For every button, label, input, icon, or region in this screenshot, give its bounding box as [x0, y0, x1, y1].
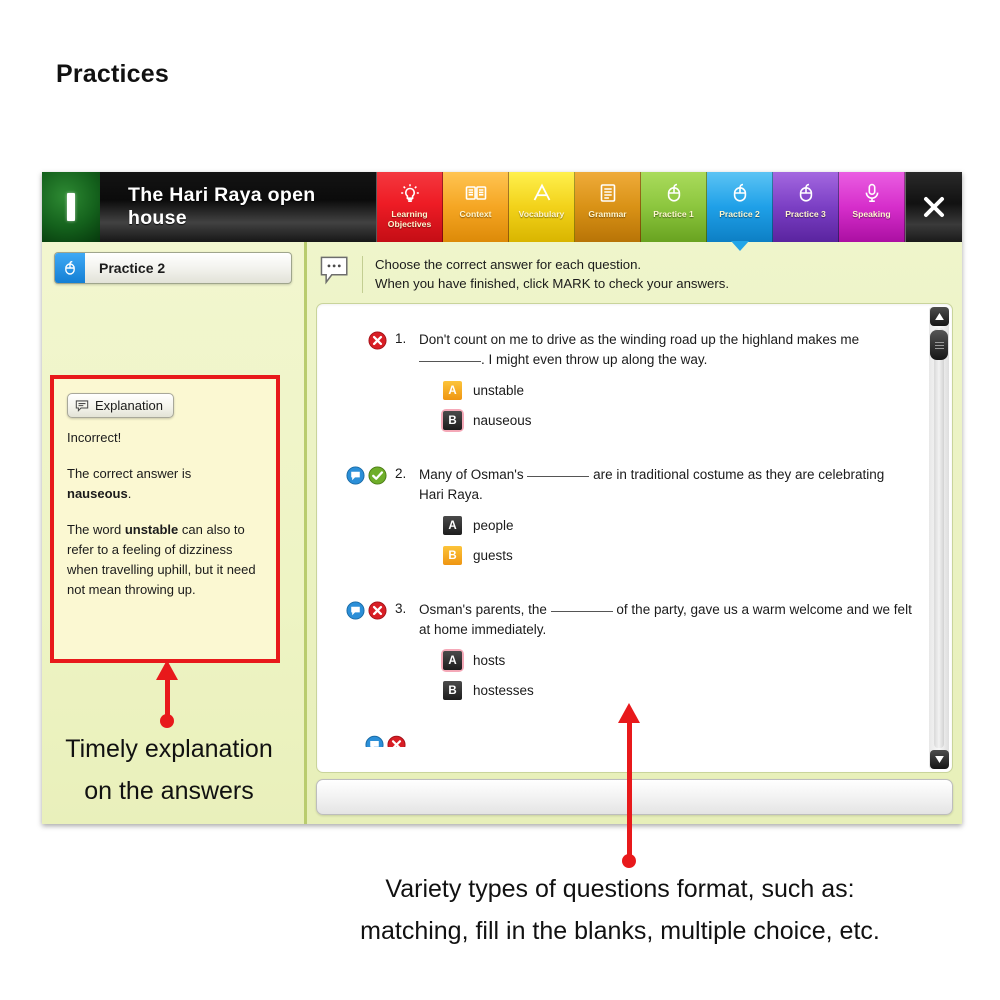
explanation-button[interactable]: Explanation: [67, 393, 174, 418]
question-number: 1.: [387, 330, 419, 439]
speech-bubble-icon: [320, 256, 352, 286]
annotation-arrow-explanation: [145, 660, 189, 728]
tab-label: Vocabulary: [517, 210, 567, 220]
blank-field[interactable]: [419, 361, 481, 362]
note-prefix: The word: [67, 522, 125, 537]
instruction-text: Choose the correct answer for each quest…: [362, 256, 729, 293]
option-text: guests: [473, 548, 513, 563]
question-marks: [341, 330, 387, 439]
blank-field[interactable]: [527, 476, 589, 477]
tab-label: Learning Objectives: [377, 210, 442, 229]
explanation-panel: Explanation Incorrect! The correct answe…: [50, 375, 280, 663]
option-key[interactable]: A: [443, 651, 462, 670]
question-item: 2. Many of Osman's are in traditional co…: [341, 465, 912, 574]
arrow-dot: [622, 854, 636, 868]
explanation-icon[interactable]: [365, 735, 384, 747]
annotation-arrow-questions: [607, 703, 651, 868]
option-key-wrap-selected: A: [441, 649, 464, 672]
explanation-icon[interactable]: [346, 601, 365, 620]
question-main: Don't count on me to drive as the windin…: [419, 330, 912, 439]
explanation-button-label: Explanation: [95, 398, 163, 413]
tab-vocabulary[interactable]: Vocabulary: [509, 172, 575, 242]
incorrect-icon: [368, 601, 387, 620]
correct-answer-intro: The correct answer is: [67, 466, 191, 481]
tab-practice-3[interactable]: Practice 3: [773, 172, 839, 242]
explanation-correct-answer: The correct answer is nauseous.: [67, 464, 263, 504]
instruction-line-2: When you have finished, click MARK to ch…: [375, 275, 729, 294]
lightbulb-icon: [397, 178, 423, 208]
question-options: A unstable B nauseous: [419, 379, 912, 432]
option-text: people: [473, 518, 514, 533]
tab-context[interactable]: Context: [443, 172, 509, 242]
scrollbar-thumb[interactable]: [930, 330, 948, 360]
lesson-title: The Hari Raya open house: [100, 172, 377, 242]
explanation-verdict: Incorrect!: [67, 428, 263, 448]
option-row[interactable]: A unstable: [419, 379, 912, 402]
tab-grammar[interactable]: Grammar: [575, 172, 641, 242]
sidebar-section-practice-2[interactable]: Practice 2: [54, 252, 292, 284]
stem-part-1: Osman's parents, the: [419, 602, 547, 617]
tab-learning-objectives[interactable]: Learning Objectives: [377, 172, 443, 242]
stem-part-1: Many of Osman's: [419, 467, 524, 482]
speech-bubble-icon: [75, 399, 89, 413]
correct-icon: [368, 466, 387, 485]
tab-practice-1[interactable]: Practice 1: [641, 172, 707, 242]
period: .: [128, 486, 132, 501]
explanation-note: The word unstable can also to refer to a…: [67, 520, 263, 600]
vertical-scrollbar[interactable]: [929, 307, 949, 769]
tab-label: Practice 3: [783, 210, 828, 220]
option-key-wrap: B: [441, 679, 464, 702]
question-main: Osman's parents, the of the party, gave …: [419, 600, 912, 709]
book-icon: [463, 178, 489, 208]
option-text: unstable: [473, 383, 524, 398]
option-key[interactable]: B: [443, 546, 462, 565]
question-marks: [341, 465, 387, 574]
blank-field[interactable]: [551, 611, 613, 612]
correct-answer-word: nauseous: [67, 486, 128, 501]
close-button[interactable]: [905, 172, 962, 242]
option-row[interactable]: B nauseous: [419, 409, 912, 432]
annotation-caption-bottom: Variety types of questions format, such …: [240, 868, 1000, 952]
question-item: 3. Osman's parents, the of the party, ga…: [341, 600, 912, 709]
option-row[interactable]: A people: [419, 514, 912, 537]
mouse-icon: [661, 178, 687, 208]
tab-label: Context: [458, 210, 494, 220]
question-stem: Osman's parents, the of the party, gave …: [419, 600, 912, 640]
nav-tabs: Learning Objectives Context Vocabulary: [377, 172, 905, 242]
option-key-wrap: A: [441, 514, 464, 537]
instruction-banner: Choose the correct answer for each quest…: [316, 250, 953, 303]
page-title: Practices: [56, 60, 169, 89]
instruction-line-1: Choose the correct answer for each quest…: [375, 256, 729, 275]
caption-left-line-1: Timely explanation: [14, 728, 324, 770]
stem-part-1: Don't count on me to drive as the windin…: [419, 332, 859, 347]
explanation-text: Incorrect! The correct answer is nauseou…: [67, 428, 263, 600]
question-stem: Many of Osman's are in traditional costu…: [419, 465, 912, 505]
question-list: 1. Don't count on me to drive as the win…: [317, 304, 952, 753]
question-number: 2.: [387, 465, 419, 574]
incorrect-icon: [368, 331, 387, 350]
logo-letter-i-icon: [67, 193, 75, 221]
incorrect-icon: [387, 735, 406, 747]
caption-bottom-line-1: Variety types of questions format, such …: [240, 868, 1000, 910]
question-number: 3.: [387, 600, 419, 709]
question-options: A people B guests: [419, 514, 912, 567]
arrow-shaft: [627, 719, 632, 860]
option-row[interactable]: A hosts: [419, 649, 912, 672]
stem-part-2: . I might even throw up along the way.: [481, 352, 707, 367]
document-icon: [595, 178, 621, 208]
option-text: nauseous: [473, 413, 532, 428]
app-logo: [42, 172, 100, 242]
option-key-wrap: B: [441, 544, 464, 567]
app-header: The Hari Raya open house Learning Object…: [42, 172, 962, 242]
option-row[interactable]: B guests: [419, 544, 912, 567]
scrollbar-track[interactable]: [934, 328, 944, 748]
explanation-icon[interactable]: [346, 466, 365, 485]
letter-a-icon: [529, 178, 555, 208]
mouse-icon: [727, 178, 753, 208]
tab-label: Grammar: [586, 210, 628, 220]
tab-label: Speaking: [850, 210, 892, 220]
option-key[interactable]: B: [443, 411, 462, 430]
option-row[interactable]: B hostesses: [419, 679, 912, 702]
tab-label: Practice 2: [717, 210, 762, 220]
note-bold-word: unstable: [125, 522, 178, 537]
option-key-wrap-selected: B: [441, 409, 464, 432]
annotation-caption-left: Timely explanation on the answers: [14, 728, 324, 812]
sidebar-section-label: Practice 2: [85, 253, 291, 283]
arrow-dot: [160, 714, 174, 728]
option-text: hosts: [473, 653, 505, 668]
question-marks: [341, 600, 387, 709]
caption-bottom-line-2: matching, fill in the blanks, multiple c…: [240, 910, 1000, 952]
slide-canvas: Practices The Hari Raya open house Learn…: [0, 0, 1000, 1000]
question-main: Many of Osman's are in traditional costu…: [419, 465, 912, 574]
question-item: 1. Don't count on me to drive as the win…: [341, 330, 912, 439]
option-key[interactable]: B: [443, 681, 462, 700]
option-key-wrap: A: [441, 379, 464, 402]
microphone-icon: [859, 178, 885, 208]
option-key[interactable]: A: [443, 381, 462, 400]
mouse-icon: [793, 178, 819, 208]
tab-practice-2[interactable]: Practice 2: [707, 172, 773, 242]
scroll-down-button[interactable]: [930, 750, 949, 769]
caption-left-line-2: on the answers: [14, 770, 324, 812]
option-text: hostesses: [473, 683, 534, 698]
option-key[interactable]: A: [443, 516, 462, 535]
question-options: A hosts B hostesses: [419, 649, 912, 702]
close-icon: [919, 192, 949, 222]
mouse-icon: [55, 253, 85, 283]
scroll-up-button[interactable]: [930, 307, 949, 326]
tab-label: Practice 1: [651, 210, 696, 220]
question-stem: Don't count on me to drive as the windin…: [419, 330, 912, 370]
tab-speaking[interactable]: Speaking: [839, 172, 905, 242]
